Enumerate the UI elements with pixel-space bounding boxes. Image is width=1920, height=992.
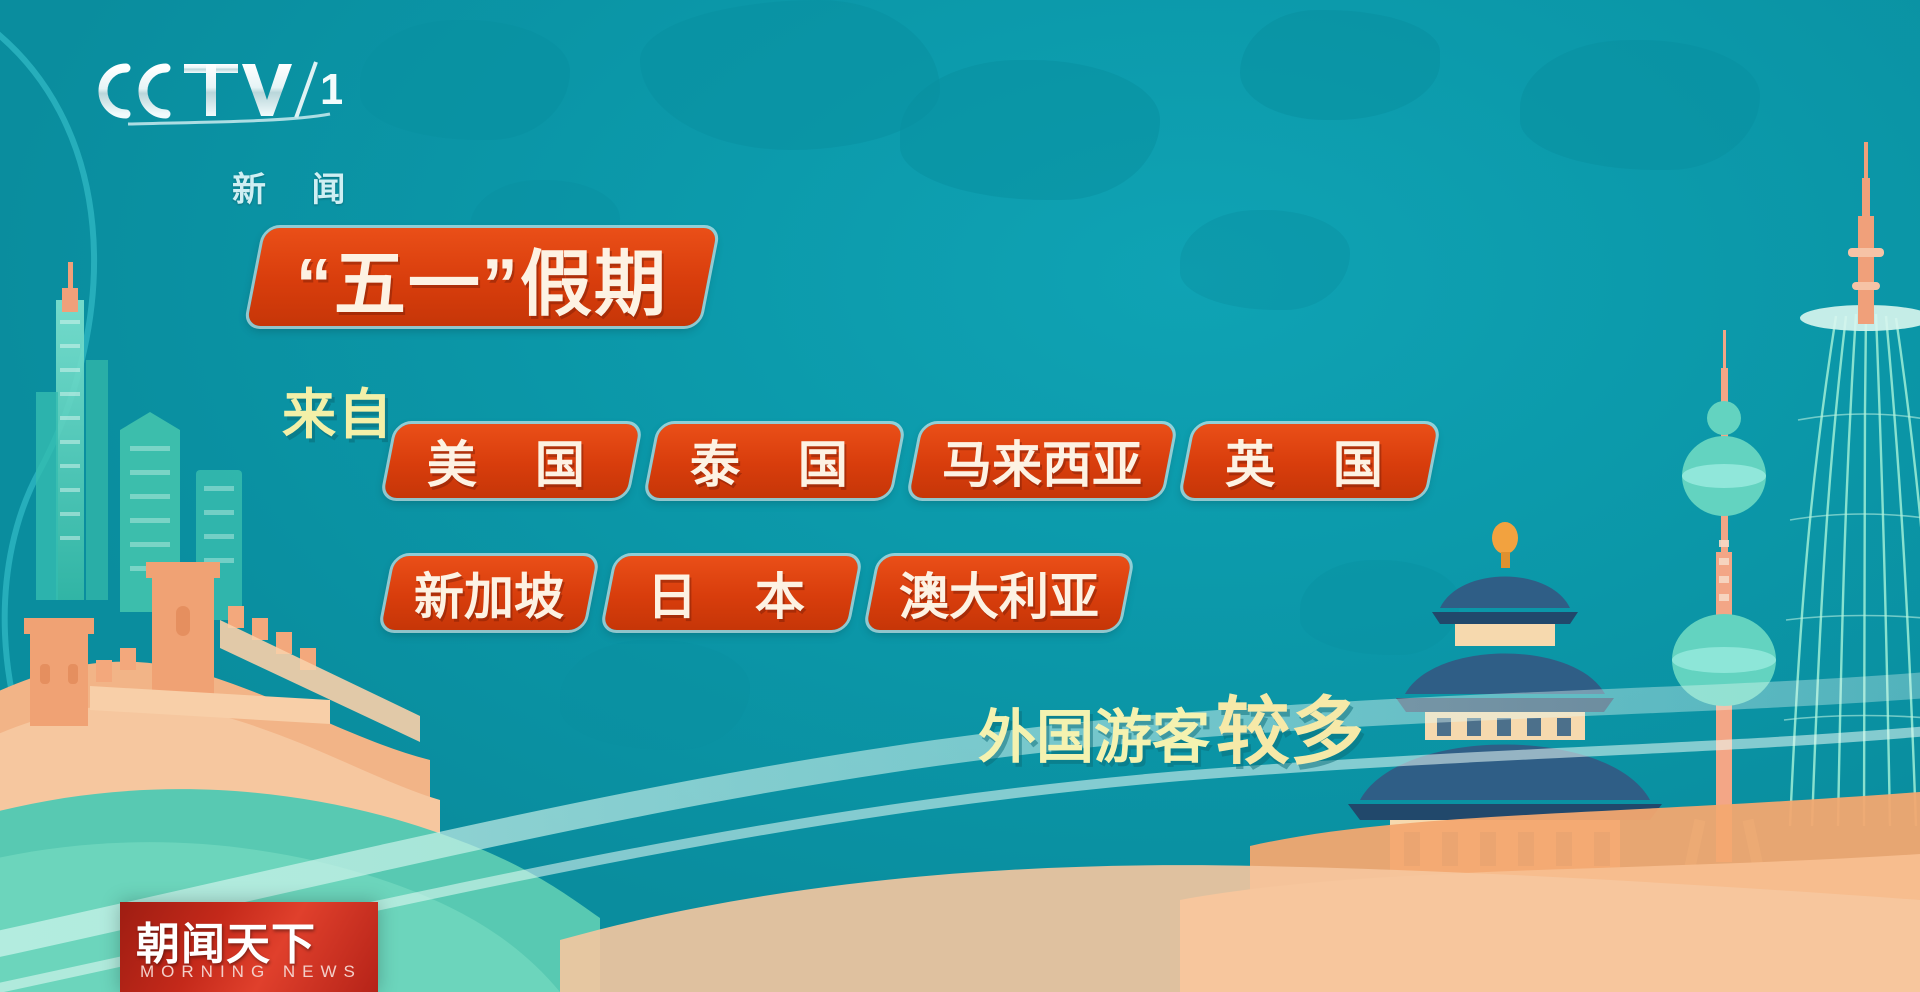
country-tag: 英 国 [1181, 424, 1438, 498]
country-tag: 马来西亚 [909, 424, 1175, 498]
country-tag-label: 日 本 [636, 557, 827, 629]
country-tag: 日 本 [603, 556, 860, 630]
program-logo-en: MORNING NEWS [140, 962, 362, 982]
country-tag-label: 马来西亚 [942, 425, 1142, 497]
country-tag: 美 国 [383, 424, 640, 498]
country-tag: 新加坡 [381, 556, 597, 630]
country-tag-row-1: 美 国 泰 国 马来西亚 英 国 [390, 424, 1431, 498]
caption-primary: 外国游客 [978, 690, 1210, 774]
country-tag-row-2: 新加坡 日 本 澳大利亚 [388, 556, 1125, 630]
country-tag-label: 泰 国 [679, 425, 870, 497]
country-tag-label: 英 国 [1214, 425, 1405, 497]
country-tag-label: 新加坡 [414, 557, 564, 629]
program-logo: 朝闻天下 MORNING NEWS [120, 902, 378, 992]
caption-emphasis: 较多 [1216, 672, 1364, 779]
country-tag: 泰 国 [646, 424, 903, 498]
headline-block: “五一”假期 来自 美 国 泰 国 马来西亚 英 国 新加坡 日 本 [0, 0, 1920, 992]
headline-title-banner: “五一”假期 [246, 228, 717, 326]
country-tag-label: 美 国 [416, 425, 607, 497]
headline-title-text: “五一”假期 [296, 225, 668, 330]
country-tag: 澳大利亚 [866, 556, 1132, 630]
headline-lead-text: 来自 [282, 370, 394, 449]
country-tag-label: 澳大利亚 [899, 557, 1099, 629]
broadcast-screen: 13 新 闻 “五一”假期 来自 美 国 泰 国 马来西亚 英 国 [0, 0, 1920, 992]
headline-caption: 外国游客 较多 [978, 672, 1364, 779]
